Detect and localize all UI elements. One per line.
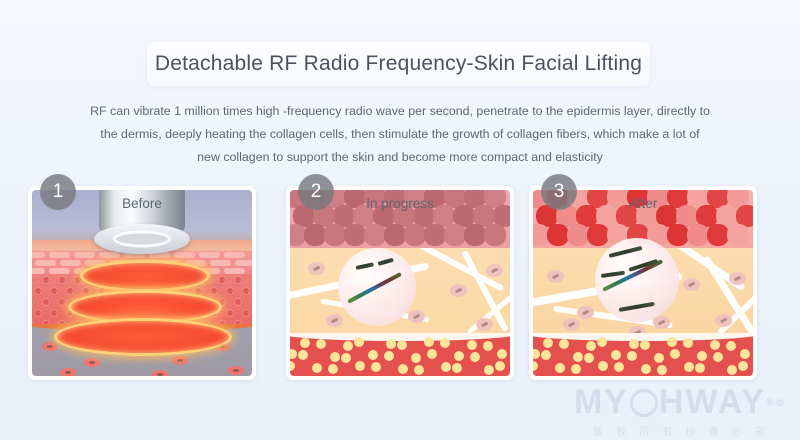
fat-globule <box>654 353 664 363</box>
wm-cn-1: 版 <box>594 423 606 438</box>
fibroblast-cell <box>715 314 732 327</box>
fat-globule <box>411 353 421 363</box>
fat-globule <box>726 341 736 351</box>
epidermis-cell <box>384 224 406 246</box>
fat-globule <box>611 350 621 360</box>
dermis-cell <box>82 287 90 295</box>
fat-globule <box>684 362 694 372</box>
registered-mark: ® <box>766 397 776 409</box>
fat-globule <box>495 361 505 371</box>
fat-globule <box>441 362 451 372</box>
fibroblast-cell <box>563 318 580 331</box>
epidermis-cell <box>444 224 466 246</box>
watermark-brand-part2: HWAY <box>659 383 766 422</box>
epidermis-cell <box>667 224 689 246</box>
fat-globule <box>640 340 650 350</box>
fibroblast-cell <box>683 278 700 291</box>
fat-globule <box>300 338 310 348</box>
epidermis-cell <box>547 224 569 246</box>
fibroblast-cell <box>326 314 343 327</box>
fat-globule <box>386 339 396 349</box>
fat-globule <box>710 340 720 350</box>
fibroblast-cell <box>577 306 594 319</box>
page-title: Detachable RF Radio Frequency-Skin Facia… <box>155 52 642 76</box>
vessel-cell <box>84 358 100 367</box>
dermis-cell <box>234 298 242 306</box>
fat-globule <box>670 349 680 359</box>
epidermis-cell <box>32 252 45 258</box>
fat-globule <box>440 338 450 348</box>
epidermis-cell <box>344 224 366 246</box>
fat-globule <box>290 361 295 371</box>
fat-globule <box>740 349 750 359</box>
fibroblast-cell <box>547 270 564 283</box>
muscle-fat-layer <box>290 333 510 376</box>
dermis-cell <box>242 287 250 295</box>
epidermis-cell <box>74 252 95 258</box>
illustration-before <box>32 190 252 376</box>
fibroblast-cell <box>486 264 503 277</box>
fibroblast-cell <box>476 318 493 331</box>
copyright-mark: © <box>776 397 786 409</box>
wm-cn-8: 究 <box>755 423 767 438</box>
fat-globule <box>533 361 538 371</box>
fibroblast-cell <box>729 272 746 285</box>
epidermis-cell <box>199 252 220 258</box>
epidermis-cell <box>60 260 81 266</box>
fat-globule <box>483 341 493 351</box>
fat-globule <box>614 362 624 372</box>
epidermis-cell <box>210 260 231 266</box>
fat-globule <box>555 363 565 373</box>
fibroblast-cell <box>408 310 425 323</box>
watermark-globe-icon <box>630 389 658 417</box>
dermis-cell <box>58 276 66 284</box>
rf-probe-head <box>94 224 190 254</box>
muscle-fat-layer <box>533 333 753 376</box>
vessel-cell <box>172 356 188 365</box>
fat-globule <box>667 337 677 347</box>
fat-globule <box>312 363 322 373</box>
fat-globule <box>290 349 297 359</box>
vessel-cell <box>60 368 76 376</box>
wm-cn-6: 袭 <box>709 423 721 438</box>
fat-globule <box>657 365 667 375</box>
fat-globule <box>586 341 596 351</box>
fat-globule <box>543 338 553 348</box>
epidermis-cell <box>224 252 245 258</box>
fat-globule <box>330 352 340 362</box>
panel-in-progress: 2 <box>286 186 514 380</box>
watermark-brand-part1: MY <box>574 383 629 422</box>
fat-globule <box>597 337 607 347</box>
epidermis-cell <box>464 224 486 246</box>
dermis-cell <box>242 309 250 317</box>
vessel-cell <box>42 342 58 351</box>
fat-globule <box>467 340 477 350</box>
vessel-cell <box>152 370 168 376</box>
wm-cn-2: 权 <box>617 423 629 438</box>
promo-page: Detachable RF Radio Frequency-Skin Facia… <box>0 0 800 440</box>
fat-globule <box>541 350 551 360</box>
fat-globule <box>355 361 365 371</box>
dermis-cell <box>234 276 242 284</box>
step-badge-3: 3 <box>541 174 577 210</box>
dermis-cell <box>34 287 42 295</box>
fat-globule <box>470 352 480 362</box>
fibroblast-cell <box>629 326 646 334</box>
epidermis-cell <box>404 224 426 246</box>
title-banner: Detachable RF Radio Frequency-Skin Facia… <box>147 42 650 86</box>
fat-globule <box>398 364 408 374</box>
epidermis-cell <box>424 224 446 246</box>
description-paragraph: RF can vibrate 1 million times high -fre… <box>88 100 712 169</box>
fat-globule <box>484 365 494 375</box>
dermis-cell <box>32 298 34 306</box>
dermis-cell <box>226 287 234 295</box>
fat-globule <box>571 364 581 374</box>
fat-globule <box>738 361 748 371</box>
epidermis-cell <box>99 252 120 258</box>
fat-globule <box>427 349 437 359</box>
epidermis-cell <box>484 224 506 246</box>
wm-cn-4: 有 <box>663 423 675 438</box>
dermis-cell <box>226 309 234 317</box>
epidermis-cell <box>587 224 609 246</box>
dermis-cell <box>66 287 74 295</box>
step-badge-1: 1 <box>40 174 76 210</box>
fat-globule <box>629 339 639 349</box>
wm-cn-3: 所 <box>640 423 652 438</box>
fat-globule <box>497 349 507 359</box>
dermis-cell <box>50 287 58 295</box>
fat-globule <box>713 352 723 362</box>
epidermis-cell <box>235 260 252 266</box>
dermis-cell <box>218 276 226 284</box>
wm-cn-7: 必 <box>732 423 744 438</box>
dermis-cell <box>42 276 50 284</box>
illustration-after <box>533 190 753 376</box>
fat-globule <box>341 353 351 363</box>
fat-globule <box>598 361 608 371</box>
watermark-logo: MY HWAY ® © 版 权 所 有 抄 袭 必 究 <box>566 383 794 435</box>
epidermis-cell <box>707 224 729 246</box>
dermis-cell <box>42 298 50 306</box>
vessel-cell <box>228 366 244 375</box>
epidermis-cell <box>49 252 70 258</box>
step-badge-2: 2 <box>298 174 334 210</box>
fat-globule <box>368 350 378 360</box>
illustration-in-progress <box>290 190 510 376</box>
fat-globule <box>298 350 308 360</box>
epidermis-cell <box>727 224 749 246</box>
fat-globule <box>584 353 594 363</box>
fat-globule <box>727 365 737 375</box>
panel-after: 3 <box>529 186 757 380</box>
fat-globule <box>695 363 705 373</box>
fat-globule <box>533 349 540 359</box>
dermis-cell <box>58 298 66 306</box>
fat-globule <box>424 337 434 347</box>
epidermis-cell <box>567 224 589 246</box>
fat-globule <box>414 365 424 375</box>
fibroblast-cell <box>308 262 325 275</box>
energy-ring-3 <box>54 318 232 356</box>
fat-globule <box>328 364 338 374</box>
fat-globule <box>697 351 707 361</box>
fat-globule <box>316 339 326 349</box>
fat-globule <box>454 351 464 361</box>
fat-globule <box>452 363 462 373</box>
dermis-cell <box>34 309 42 317</box>
epidermis-cell <box>364 224 386 246</box>
energy-ring-1 <box>80 260 210 292</box>
fat-globule <box>371 362 381 372</box>
fat-globule <box>641 364 651 374</box>
fat-globule <box>384 351 394 361</box>
fat-globule <box>559 339 569 349</box>
epidermis-cell <box>174 252 195 258</box>
panel-before: 1 <box>28 186 256 380</box>
fat-globule <box>683 338 693 348</box>
fat-globule <box>343 341 353 351</box>
fat-globule <box>573 352 583 362</box>
epidermis-cell <box>304 224 326 246</box>
dermis-cell <box>50 309 58 317</box>
dermis-cell <box>32 276 34 284</box>
fat-globule <box>397 340 407 350</box>
fat-globule <box>627 351 637 361</box>
epidermis-cell <box>35 260 56 266</box>
epidermis-cell <box>324 224 346 246</box>
wm-cn-5: 抄 <box>686 423 698 438</box>
fibroblast-cell <box>450 284 467 297</box>
fat-globule <box>354 337 364 347</box>
dermis-cell <box>210 287 218 295</box>
epidermis-cell <box>687 224 709 246</box>
watermark-brand: MY HWAY ® © <box>566 383 794 422</box>
panel-row: 1 2 <box>0 186 800 386</box>
watermark-chinese-text: 版 权 所 有 抄 袭 必 究 <box>566 423 794 438</box>
